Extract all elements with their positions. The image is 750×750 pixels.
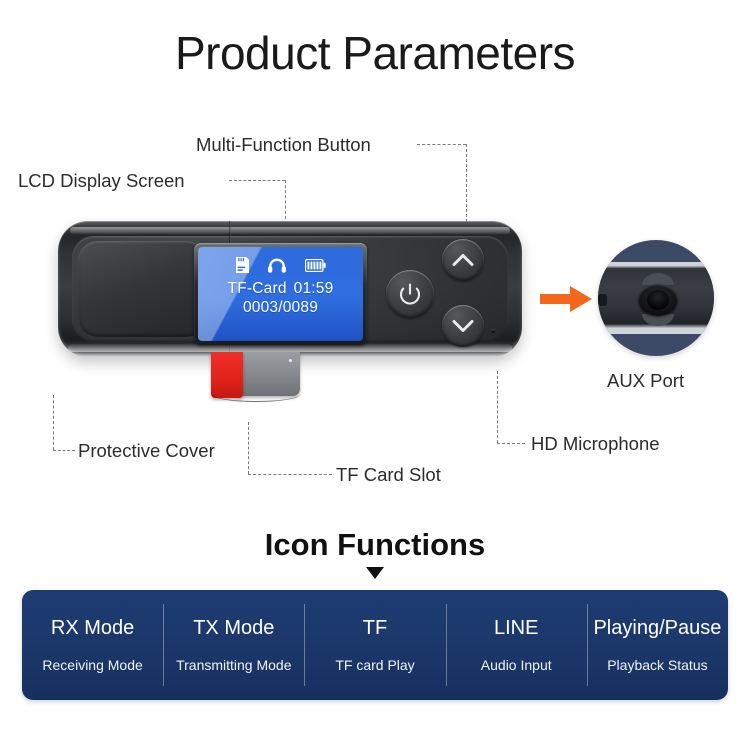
column-subtitle: Transmitting Mode bbox=[176, 657, 291, 673]
lcd-primary-line: TF-Card01:59 bbox=[198, 280, 363, 298]
callout-label-protective-cover: Protective Cover bbox=[78, 442, 215, 461]
callout-label-multi-function-button: Multi-Function Button bbox=[196, 136, 371, 155]
table-column-line: LINE Audio Input bbox=[446, 590, 587, 700]
callout-label-lcd-display-screen: LCD Display Screen bbox=[18, 172, 185, 191]
table-column-tf: TF TF card Play bbox=[304, 590, 445, 700]
volume-down-button[interactable] bbox=[442, 305, 484, 347]
table-column-rx-mode: RX Mode Receiving Mode bbox=[22, 590, 163, 700]
aux-arrow-icon bbox=[540, 286, 592, 312]
power-icon bbox=[396, 280, 424, 308]
table-column-playing-pause: Playing/Pause Playback Status bbox=[587, 590, 728, 700]
column-subtitle: TF card Play bbox=[335, 657, 414, 673]
icon-functions-table: RX Mode Receiving Mode TX Mode Transmitt… bbox=[22, 590, 728, 700]
device-end-cap bbox=[78, 241, 206, 337]
product-illustration: TF-Card01:59 0003/0089 12 bbox=[0, 190, 750, 440]
battery-icon bbox=[305, 259, 326, 272]
table-column-tx-mode: TX Mode Transmitting Mode bbox=[163, 590, 304, 700]
chevron-up-icon bbox=[452, 252, 474, 268]
lcd-time: 01:59 bbox=[294, 280, 334, 297]
lcd-source-label: TF-Card bbox=[228, 280, 287, 297]
tf-card-icon bbox=[236, 257, 249, 273]
column-title: TX Mode bbox=[193, 617, 274, 640]
aux-port-inset bbox=[598, 240, 714, 356]
headphone-icon bbox=[268, 258, 286, 273]
column-title: TF bbox=[363, 617, 387, 640]
volume-up-button[interactable] bbox=[442, 239, 484, 281]
lcd-display-screen: TF-Card01:59 0003/0089 bbox=[194, 243, 367, 345]
lcd-track-counter: 0003/0089 bbox=[198, 299, 363, 317]
column-title: LINE bbox=[494, 617, 538, 640]
tf-card-dot bbox=[289, 359, 292, 362]
protective-cover-curve bbox=[211, 386, 301, 402]
column-subtitle: Receiving Mode bbox=[42, 657, 142, 673]
column-subtitle: Audio Input bbox=[481, 657, 552, 673]
multi-function-button[interactable] bbox=[386, 270, 434, 318]
lcd-screen-surface: TF-Card01:59 0003/0089 bbox=[198, 247, 363, 341]
hd-microphone bbox=[491, 329, 495, 333]
column-title: RX Mode bbox=[51, 617, 134, 640]
lcd-status-icon-row bbox=[198, 247, 363, 276]
down-triangle-icon bbox=[366, 567, 384, 579]
callout-label-tf-card-slot: TF Card Slot bbox=[336, 466, 441, 485]
aux-jack-hole bbox=[647, 290, 669, 310]
aux-side-slot bbox=[598, 294, 607, 306]
column-subtitle: Playback Status bbox=[607, 657, 707, 673]
page-title: Product Parameters bbox=[0, 26, 750, 80]
chevron-down-icon bbox=[452, 318, 474, 334]
section-title: Icon Functions bbox=[0, 527, 750, 563]
column-title: Playing/Pause bbox=[593, 617, 721, 640]
